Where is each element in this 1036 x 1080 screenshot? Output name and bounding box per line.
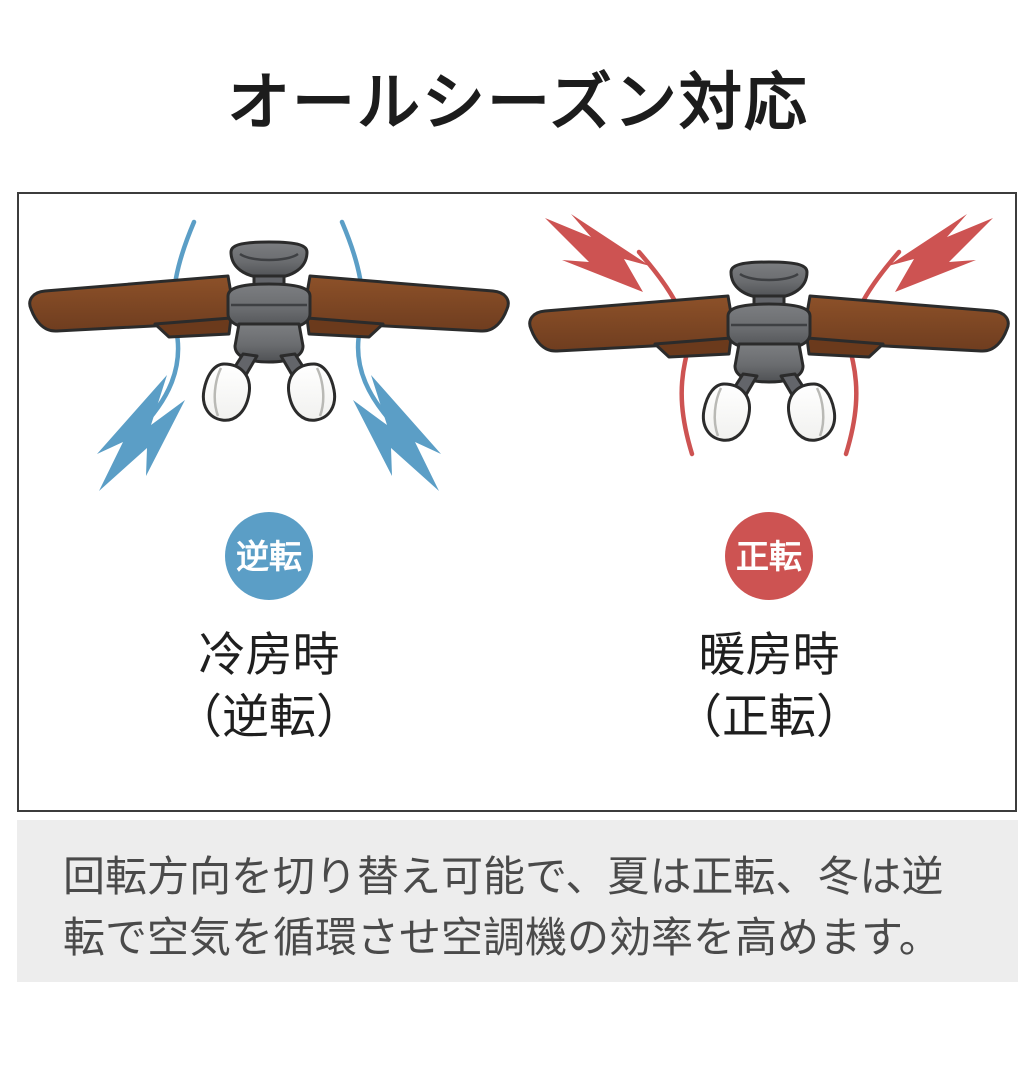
light-shade-left bbox=[703, 384, 749, 440]
airflow-arrow-left bbox=[545, 214, 650, 292]
panel-heating: 正転 暖房時 （正転） bbox=[519, 194, 1019, 810]
badge-reverse-label: 逆転 bbox=[236, 540, 302, 573]
airflow-arrow-left bbox=[97, 375, 185, 491]
note-line-1: 回転方向を切り替え可能で、夏は正転、冬は逆 bbox=[63, 848, 972, 909]
note-band: 回転方向を切り替え可能で、夏は正転、冬は逆 転で空気を循環させ空調機の効率を高め… bbox=[17, 820, 1018, 982]
fan-blade-left bbox=[530, 296, 733, 357]
light-shade-left bbox=[203, 364, 249, 420]
light-shade-right bbox=[289, 364, 335, 420]
caption-cooling: 冷房時 （逆転） bbox=[19, 624, 519, 748]
badge-forward: 正転 bbox=[725, 512, 813, 600]
caption-heating-line2: （正転） bbox=[519, 686, 1019, 748]
badge-forward-label: 正転 bbox=[736, 540, 802, 573]
airflow-arrow-right bbox=[888, 214, 993, 292]
fan-columns: 逆転 冷房時 （逆転） bbox=[19, 194, 1015, 810]
airflow-arrow-right bbox=[353, 375, 441, 491]
note-text: 回転方向を切り替え可能で、夏は正転、冬は逆 転で空気を循環させ空調機の効率を高め… bbox=[63, 848, 972, 970]
comparison-panel: 逆転 冷房時 （逆転） bbox=[17, 192, 1017, 812]
light-shade-right bbox=[789, 384, 835, 440]
ceiling-fan-illustration-cooling bbox=[19, 204, 519, 514]
fan-canopy bbox=[231, 242, 307, 278]
caption-heating-line1: 暖房時 bbox=[519, 624, 1019, 686]
fan-blade-left bbox=[30, 276, 233, 337]
caption-cooling-line1: 冷房時 bbox=[19, 624, 519, 686]
fan-blade-right bbox=[305, 276, 508, 337]
ceiling-fan-illustration-heating bbox=[519, 204, 1019, 514]
fan-canopy bbox=[731, 262, 807, 298]
panel-cooling: 逆転 冷房時 （逆転） bbox=[19, 194, 519, 810]
fan-blade-right bbox=[805, 296, 1008, 357]
caption-cooling-line2: （逆転） bbox=[19, 686, 519, 748]
badge-reverse: 逆転 bbox=[225, 512, 313, 600]
page-title: オールシーズン対応 bbox=[0, 72, 1036, 135]
note-line-2: 転で空気を循環させ空調機の効率を高めます。 bbox=[63, 909, 972, 970]
infographic-page: オールシーズン対応 bbox=[0, 0, 1036, 1080]
caption-heating: 暖房時 （正転） bbox=[519, 624, 1019, 748]
